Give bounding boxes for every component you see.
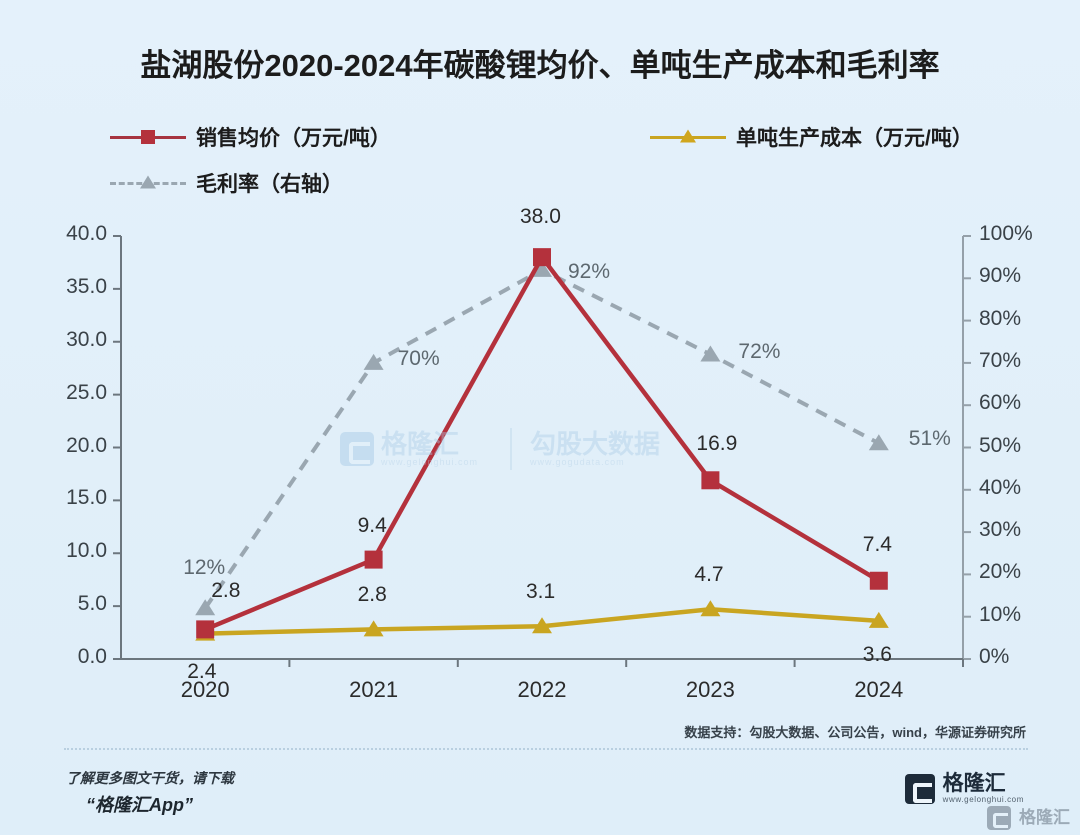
right-axis-tick-label: 0% (979, 645, 1009, 669)
chart-watermark: 格隆汇 www.gelonghui.com 勾股大数据 www.gogudata… (340, 428, 660, 470)
series-line-1 (205, 609, 879, 633)
right-axis-tick-label: 80% (979, 307, 1021, 331)
source-note: 数据支持：勾股大数据、公司公告，wind，华源证券研究所 (684, 722, 1026, 741)
data-point-label: 51% (909, 427, 951, 451)
left-axis-tick-label: 35.0 (66, 275, 107, 299)
footer-g-mark-icon (905, 774, 935, 804)
right-axis-tick-label: 40% (979, 476, 1021, 500)
data-point-label: 12% (183, 556, 225, 580)
left-axis-tick-label: 15.0 (66, 486, 107, 510)
series-marker-square (533, 248, 551, 266)
left-axis-tick-label: 5.0 (78, 592, 107, 616)
data-point-label: 72% (738, 340, 780, 364)
footer-divider (64, 748, 1028, 750)
series-marker-triangle (195, 625, 215, 641)
x-axis-category-label: 2023 (650, 677, 770, 703)
left-axis-tick-label: 20.0 (66, 434, 107, 458)
left-axis-tick-label: 40.0 (66, 222, 107, 246)
series-marker-square (870, 572, 888, 590)
legend-label-sales-price: 销售均价（万元/吨） (196, 122, 391, 152)
footer-promo-line2: “格隆汇App” (86, 791, 193, 817)
series-marker-triangle (700, 600, 720, 616)
legend-label-unit-cost: 单吨生产成本（万元/吨） (736, 122, 973, 152)
footer-brand-logo[interactable]: 格隆汇 www.gelonghui.com (905, 773, 1024, 804)
series-marker-triangle (364, 354, 384, 370)
data-point-label: 7.4 (863, 533, 892, 557)
series-marker-triangle (869, 434, 889, 450)
series-marker-triangle (195, 599, 215, 615)
right-axis-tick-label: 70% (979, 349, 1021, 373)
left-axis-tick-label: 10.0 (66, 539, 107, 563)
right-axis-tick-label: 20% (979, 560, 1021, 584)
data-point-label: 9.4 (358, 514, 387, 538)
legend-label-gross-margin: 毛利率（右轴） (196, 168, 343, 198)
left-axis-tick-label: 0.0 (78, 645, 107, 669)
footer-ghost-brand-name: 格隆汇 (1019, 809, 1070, 827)
legend-item-sales-price[interactable]: 销售均价（万元/吨） (110, 122, 391, 152)
watermark-g-mark-icon (340, 432, 374, 466)
series-marker-triangle (364, 620, 384, 636)
footer-ghost-g-mark-icon (987, 806, 1011, 830)
chart-legend: 销售均价（万元/吨） 单吨生产成本（万元/吨） 毛利率（右轴） (110, 122, 1000, 198)
series-marker-triangle (869, 612, 889, 628)
watermark-partner-name: 勾股大数据 (530, 431, 660, 457)
right-axis-tick-label: 100% (979, 222, 1033, 246)
watermark-brand-url: www.gelonghui.com (381, 457, 478, 467)
right-axis-tick-label: 60% (979, 391, 1021, 415)
footer-brand-url: www.gelonghui.com (943, 795, 1024, 804)
data-point-label: 2.8 (358, 583, 387, 607)
footer-brand-logo-ghost: 格隆汇 (987, 806, 1070, 830)
data-point-label: 3.6 (863, 643, 892, 667)
data-point-label: 70% (398, 347, 440, 371)
data-point-label: 92% (568, 260, 610, 284)
left-axis-tick-label: 25.0 (66, 381, 107, 405)
series-marker-square (196, 620, 214, 638)
x-axis-category-label: 2024 (819, 677, 939, 703)
x-axis-category-label: 2021 (314, 677, 434, 703)
legend-key-triangle-gold-icon (650, 127, 726, 147)
series-line-0 (205, 257, 879, 629)
series-marker-triangle (700, 345, 720, 361)
legend-item-unit-cost[interactable]: 单吨生产成本（万元/吨） (650, 122, 973, 152)
left-axis-tick-label: 30.0 (66, 328, 107, 352)
legend-key-dashed-triangle-grey-icon (110, 173, 186, 193)
data-point-label: 2.8 (211, 579, 240, 603)
legend-key-square-red-icon (110, 127, 186, 147)
watermark-gelonghui-logo-icon: 格隆汇 www.gelonghui.com (340, 431, 478, 467)
right-axis-tick-label: 10% (979, 603, 1021, 627)
series-line-2 (205, 270, 879, 608)
data-point-label: 38.0 (520, 205, 561, 229)
right-axis-tick-label: 90% (979, 264, 1021, 288)
watermark-divider (510, 428, 512, 470)
x-axis-category-label: 2020 (145, 677, 265, 703)
page-title: 盐湖股份2020-2024年碳酸锂均价、单吨生产成本和毛利率 (0, 40, 1080, 85)
data-point-label: 2.4 (187, 660, 216, 684)
watermark-brand-name: 格隆汇 (381, 431, 478, 457)
footer-brand-name: 格隆汇 (943, 773, 1024, 795)
footer-promo-line1: 了解更多图文干货，请下载 (66, 768, 234, 788)
watermark-partner-url: www.gogudata.com (530, 457, 660, 467)
data-point-label: 4.7 (694, 563, 723, 587)
series-marker-square (701, 471, 719, 489)
right-axis-tick-label: 30% (979, 518, 1021, 542)
data-point-label: 3.1 (526, 580, 555, 604)
series-marker-triangle (532, 617, 552, 633)
series-marker-triangle (532, 261, 552, 277)
series-marker-square (365, 551, 383, 569)
right-axis-tick-label: 50% (979, 434, 1021, 458)
chart-page: 盐湖股份2020-2024年碳酸锂均价、单吨生产成本和毛利率 销售均价（万元/吨… (0, 0, 1080, 835)
x-axis-category-label: 2022 (482, 677, 602, 703)
legend-item-gross-margin[interactable]: 毛利率（右轴） (110, 168, 343, 198)
data-point-label: 16.9 (696, 432, 737, 456)
